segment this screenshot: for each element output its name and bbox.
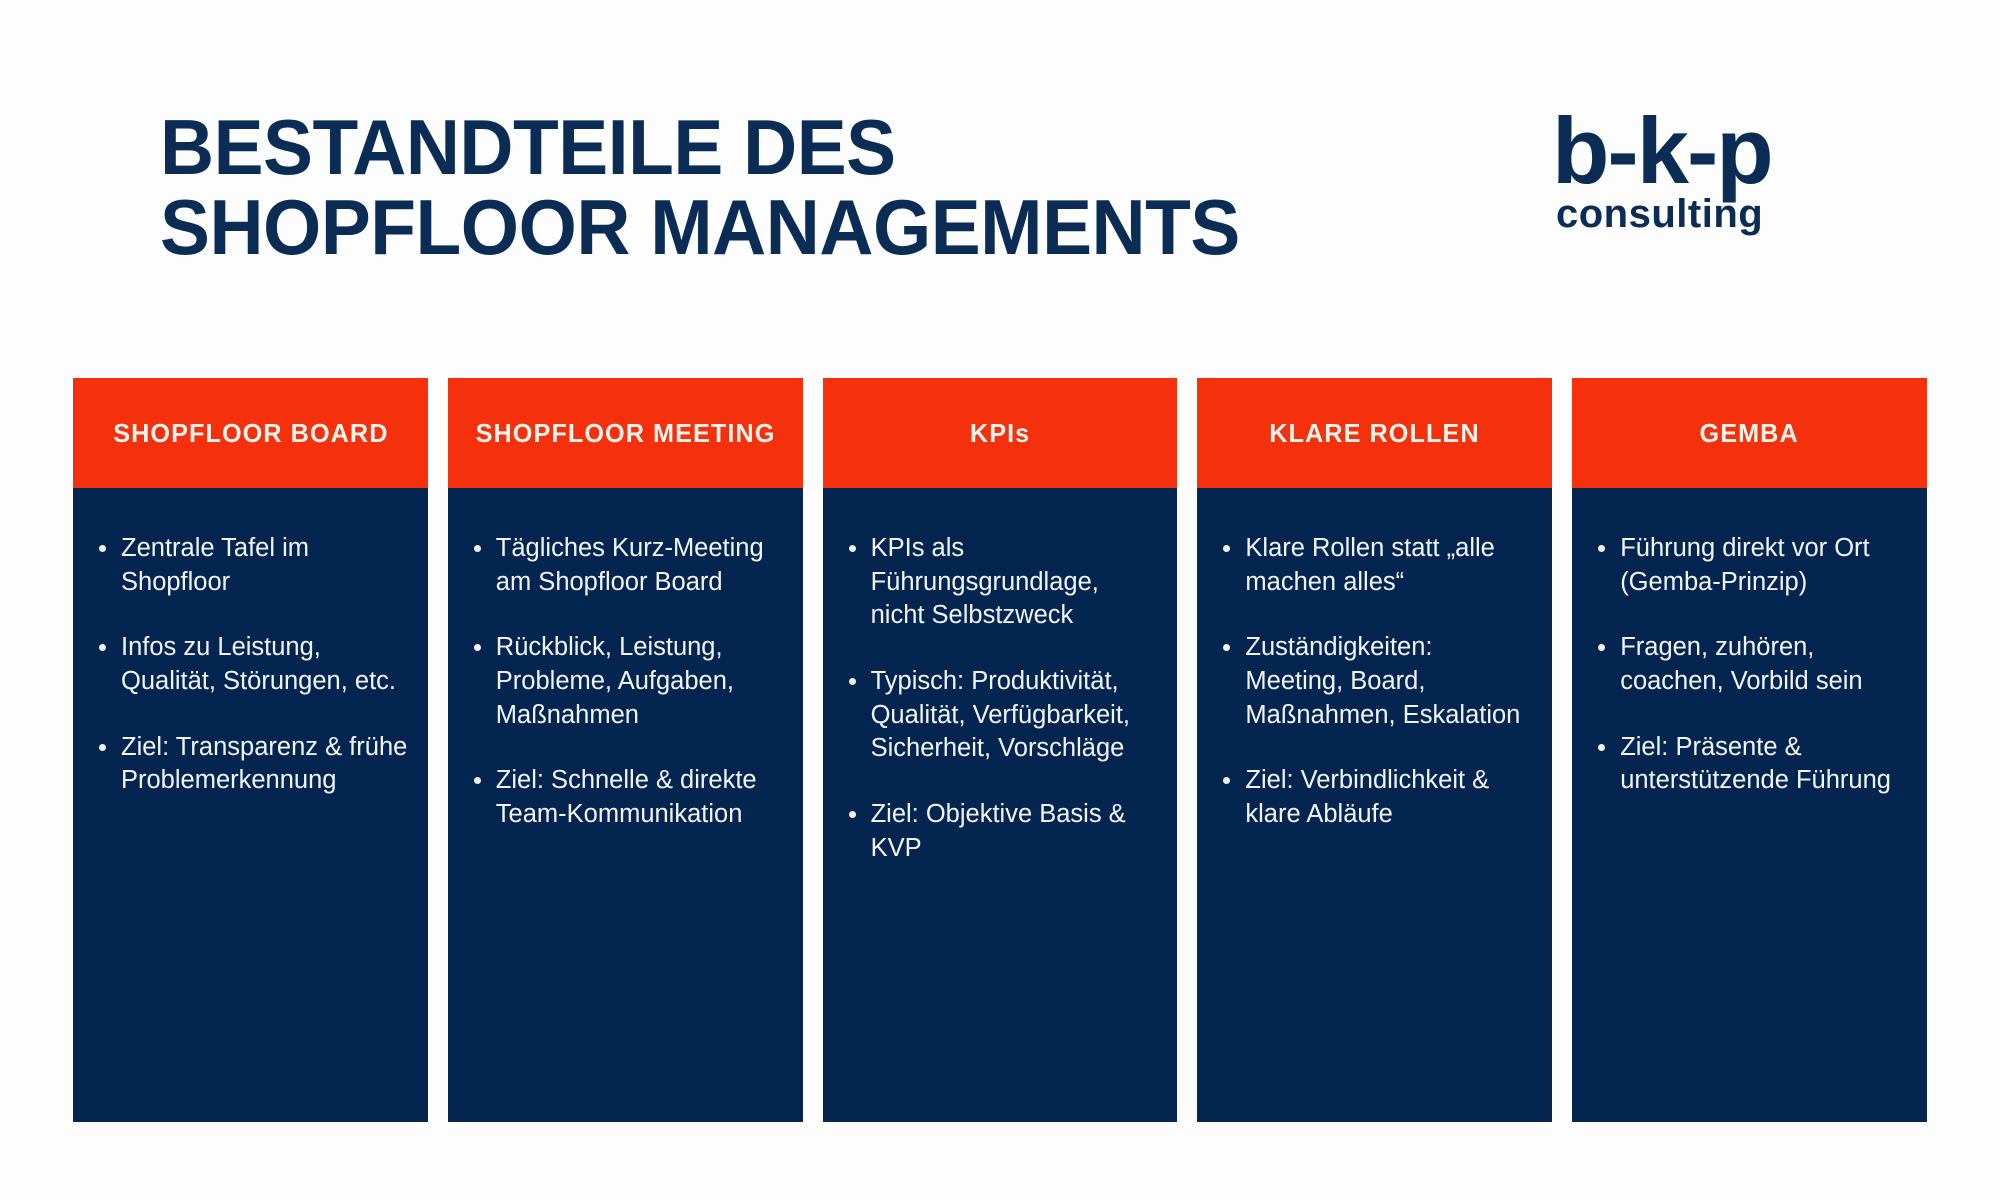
list-item: Zentrale Tafel im Shopfloor (119, 532, 410, 599)
slide-header: BESTANDTEILE DES SHOPFLOOR MANAGEMENTS b… (0, 0, 2000, 330)
column-header-label: SHOPFLOOR BOARD (113, 419, 388, 448)
column-card-shopfloor-meeting: SHOPFLOOR MEETING Tägliches Kurz-Meeting… (448, 378, 803, 1122)
column-body-gemba: Führung direkt vor Ort (Gemba-Prinzip) F… (1572, 488, 1927, 1122)
list-item: Ziel: Transparenz & frühe Problemerkennu… (119, 731, 410, 798)
bullet-list: Zentrale Tafel im Shopfloor Infos zu Lei… (89, 532, 410, 798)
list-item: Zuständigkeiten: Meeting, Board, Maßnahm… (1243, 631, 1534, 732)
page-title-line-1: BESTANDTEILE DES (160, 108, 1370, 188)
list-item: Ziel: Schnelle & direkte Team-Kommunikat… (494, 764, 785, 831)
logo-wordmark: b-k-p (1552, 104, 1772, 198)
column-header-label: KLARE ROLLEN (1270, 419, 1480, 448)
bkp-consulting-logo: b-k-p consulting (1552, 104, 1882, 264)
bullet-list: Führung direkt vor Ort (Gemba-Prinzip) F… (1588, 532, 1909, 798)
slide-canvas: BESTANDTEILE DES SHOPFLOOR MANAGEMENTS b… (0, 0, 2000, 1200)
list-item: Tägliches Kurz-Meeting am Shopfloor Boar… (494, 532, 785, 599)
page-title-line-2: SHOPFLOOR MANAGEMENTS (160, 188, 1370, 268)
column-card-klare-rollen: KLARE ROLLEN Klare Rollen statt „alle ma… (1197, 378, 1552, 1122)
column-header-label: SHOPFLOOR MEETING (475, 419, 775, 448)
logo-subtitle: consulting (1556, 194, 1763, 234)
bullet-list: Klare Rollen statt „alle machen alles“ Z… (1213, 532, 1534, 832)
column-header-label: KPIs (970, 419, 1030, 448)
column-header-gemba: GEMBA (1572, 378, 1927, 488)
column-header-klare-rollen: KLARE ROLLEN (1197, 378, 1552, 488)
list-item: Ziel: Verbindlichkeit & klare Abläufe (1243, 764, 1534, 831)
list-item: Infos zu Leistung, Qualität, Störungen, … (119, 631, 410, 698)
column-body-shopfloor-meeting: Tägliches Kurz-Meeting am Shopfloor Boar… (448, 488, 803, 1122)
list-item: Typisch: Produktivität, Qualität, Verfüg… (869, 665, 1160, 766)
list-item: Ziel: Objektive Basis & KVP (869, 798, 1160, 865)
column-card-gemba: GEMBA Führung direkt vor Ort (Gemba-Prin… (1572, 378, 1927, 1122)
list-item: Fragen, zuhören, coachen, Vorbild sein (1618, 631, 1909, 698)
page-title: BESTANDTEILE DES SHOPFLOOR MANAGEMENTS (160, 108, 1370, 267)
column-header-label: GEMBA (1700, 419, 1799, 448)
list-item: Klare Rollen statt „alle machen alles“ (1243, 532, 1534, 599)
list-item: Ziel: Präsente & unterstützende Führung (1618, 731, 1909, 798)
column-body-kpis: KPIs als Führungsgrundlage, nicht Selbst… (823, 488, 1178, 1122)
components-column-group: SHOPFLOOR BOARD Zentrale Tafel im Shopfl… (73, 378, 1927, 1122)
column-card-shopfloor-board: SHOPFLOOR BOARD Zentrale Tafel im Shopfl… (73, 378, 428, 1122)
list-item: KPIs als Führungsgrundlage, nicht Selbst… (869, 532, 1160, 633)
bullet-list: Tägliches Kurz-Meeting am Shopfloor Boar… (464, 532, 785, 832)
column-header-shopfloor-meeting: SHOPFLOOR MEETING (448, 378, 803, 488)
column-header-kpis: KPIs (823, 378, 1178, 488)
list-item: Rückblick, Leistung, Probleme, Aufgaben,… (494, 631, 785, 732)
column-header-shopfloor-board: SHOPFLOOR BOARD (73, 378, 428, 488)
list-item: Führung direkt vor Ort (Gemba-Prinzip) (1618, 532, 1909, 599)
column-card-kpis: KPIs KPIs als Führungsgrundlage, nicht S… (823, 378, 1178, 1122)
bullet-list: KPIs als Führungsgrundlage, nicht Selbst… (839, 532, 1160, 865)
column-body-klare-rollen: Klare Rollen statt „alle machen alles“ Z… (1197, 488, 1552, 1122)
column-body-shopfloor-board: Zentrale Tafel im Shopfloor Infos zu Lei… (73, 488, 428, 1122)
